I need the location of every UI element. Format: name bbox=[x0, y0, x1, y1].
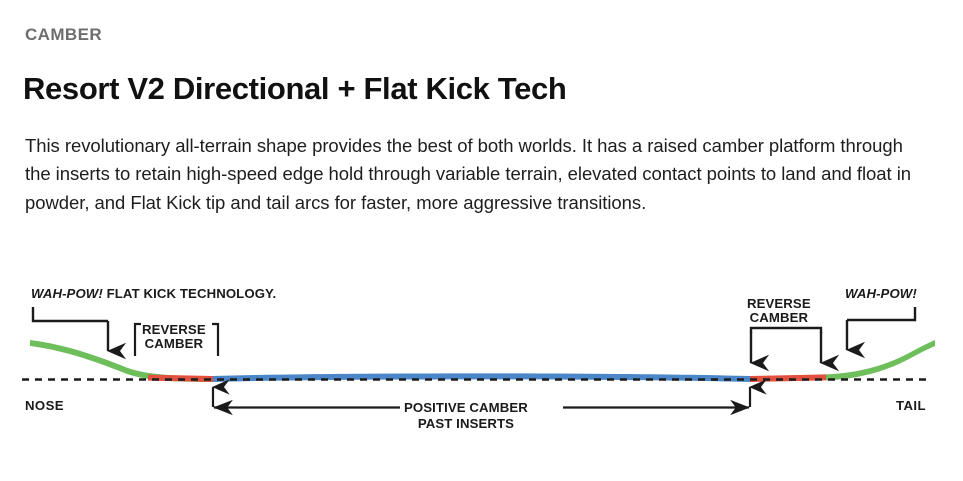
reverse-camber-right-bracket bbox=[751, 328, 821, 363]
reverse-camber-left-label: REVERSE CAMBER bbox=[142, 323, 206, 352]
segment-tail-green bbox=[826, 340, 935, 380]
wah-pow-left-text: WAH-POW! bbox=[31, 286, 103, 301]
positive-camber-line2: PAST INSERTS bbox=[404, 416, 528, 432]
reverse-camber-right-label: REVERSE CAMBER bbox=[747, 297, 811, 326]
nose-label: NOSE bbox=[25, 399, 64, 413]
reverse-camber-left-line2: CAMBER bbox=[145, 336, 203, 351]
segment-tail-red bbox=[750, 374, 826, 382]
flat-kick-technology-text: FLAT KICK TECHNOLOGY. bbox=[103, 286, 276, 301]
eyebrow-label: CAMBER bbox=[25, 26, 102, 43]
positive-camber-line1: POSITIVE CAMBER bbox=[404, 400, 528, 415]
wah-pow-right-leader-line bbox=[847, 307, 915, 350]
positive-camber-past-inserts-label: POSITIVE CAMBER PAST INSERTS bbox=[404, 400, 528, 432]
page-title: Resort V2 Directional + Flat Kick Tech bbox=[23, 71, 566, 107]
tail-label: TAIL bbox=[896, 399, 926, 413]
wah-pow-right-label: WAH-POW! bbox=[845, 287, 917, 301]
reverse-camber-right-line1: REVERSE bbox=[747, 296, 811, 311]
description-paragraph: This revolutionary all-terrain shape pro… bbox=[25, 132, 925, 218]
camber-tech-panel: CAMBER Resort V2 Directional + Flat Kick… bbox=[0, 0, 963, 481]
camber-profile-diagram: WAH-POW! FLAT KICK TECHNOLOGY. REVERSE C… bbox=[0, 262, 963, 447]
reverse-camber-right-line2: CAMBER bbox=[750, 310, 808, 325]
flat-kick-technology-label: WAH-POW! FLAT KICK TECHNOLOGY. bbox=[31, 287, 276, 301]
reverse-camber-left-line1: REVERSE bbox=[142, 322, 206, 337]
